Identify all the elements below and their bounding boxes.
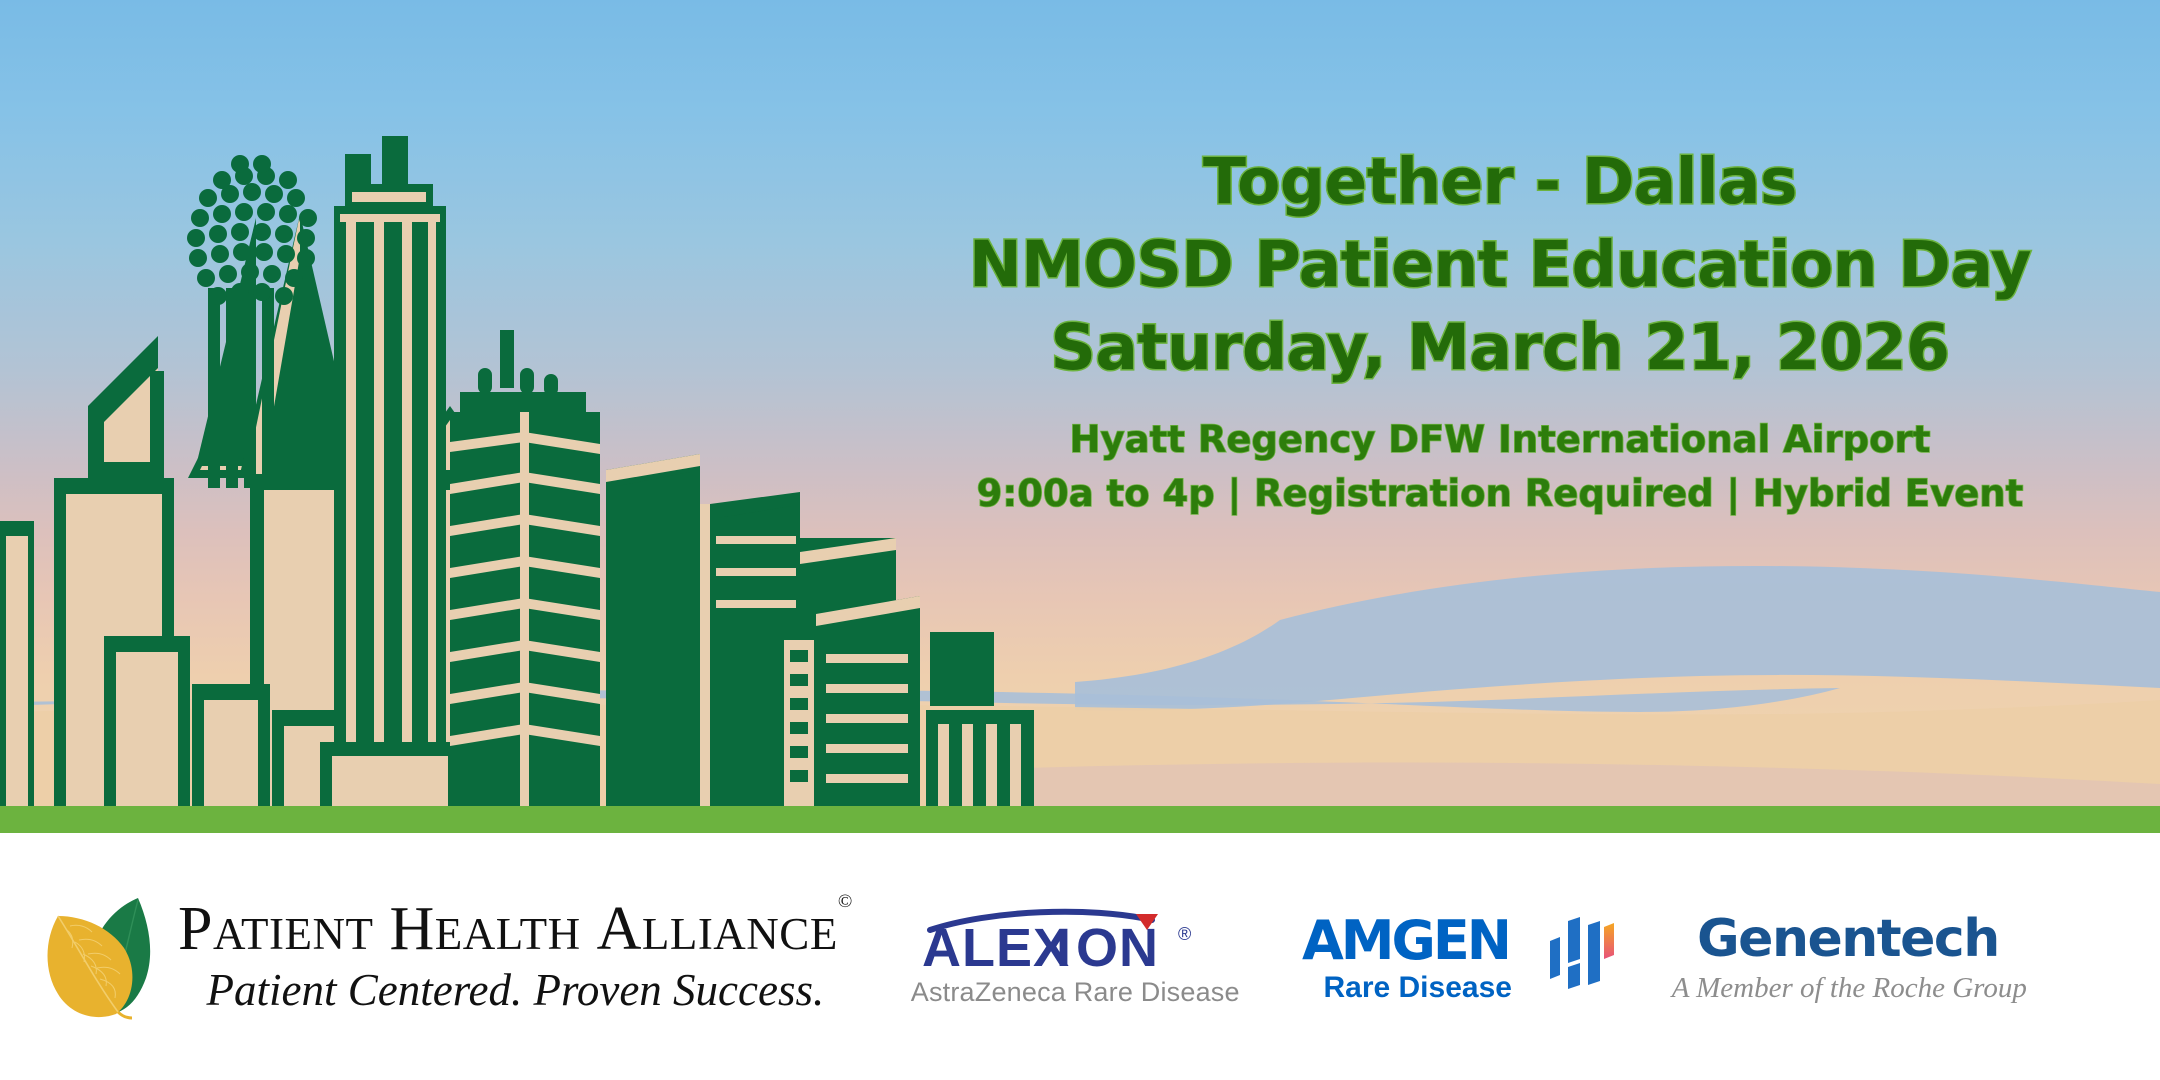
genentech-subtitle: A Member of the Roche Group — [1672, 972, 2027, 1005]
sponsor-logo-bar: PATIENT HEALTH ALLIANCE© Patient Centere… — [0, 833, 2160, 1080]
pha-p: P — [178, 895, 213, 963]
logo-amgen[interactable]: AMGEN Rare Disease — [1302, 909, 1614, 1005]
logo-alexion[interactable]: ALEX I ON ® AstraZeneca Rare Disease — [911, 906, 1240, 1008]
svg-text:ALEX: ALEX — [922, 918, 1070, 974]
two-leaves-icon — [38, 882, 166, 1032]
logo-genentech[interactable]: Genentech A Member of the Roche Group — [1672, 908, 2027, 1005]
event-banner: Together - Dallas NMOSD Patient Educatio… — [0, 0, 2160, 1080]
event-text-block: Together - Dallas NMOSD Patient Educatio… — [900, 140, 2100, 522]
headline-line-1: Together - Dallas — [900, 140, 2100, 223]
logo-patient-health-alliance[interactable]: PATIENT HEALTH ALLIANCE© Patient Centere… — [38, 882, 853, 1032]
pha-lliance: LLIANCE — [642, 909, 838, 959]
logistics-text: 9:00a to 4p | Registration Required | Hy… — [900, 467, 2100, 521]
alexion-wordmark: ALEX I ON ® — [920, 906, 1230, 974]
pha-atient: ATIENT — [213, 909, 373, 959]
pha-ealth: EALTH — [435, 909, 581, 959]
water-band-upper — [1075, 566, 2160, 711]
venue-text: Hyatt Regency DFW International Airport — [900, 413, 2100, 467]
amgen-h-mark-icon — [1548, 915, 1614, 989]
pha-a: A — [597, 895, 642, 963]
amgen-wordmark: AMGEN — [1302, 909, 1534, 969]
alexion-subtitle: AstraZeneca Rare Disease — [911, 977, 1240, 1008]
svg-text:AMGEN: AMGEN — [1302, 909, 1509, 969]
svg-text:ON: ON — [1076, 918, 1159, 974]
copyright-icon: © — [838, 891, 853, 912]
headline-line-3: Saturday, March 21, 2026 — [900, 306, 2100, 389]
amgen-subtitle: Rare Disease — [1323, 971, 1511, 1005]
registered-mark-icon: ® — [1178, 924, 1191, 944]
headline-line-2: NMOSD Patient Education Day — [900, 223, 2100, 306]
svg-text:I: I — [1056, 918, 1072, 974]
hero-illustration: Together - Dallas NMOSD Patient Educatio… — [0, 0, 2160, 806]
green-divider-bar — [0, 806, 2160, 833]
svg-text:Genentech: Genentech — [1697, 909, 1999, 969]
pha-tagline: Patient Centered. Proven Success. — [207, 966, 825, 1016]
genentech-wordmark: Genentech — [1697, 908, 2001, 970]
pha-h: H — [389, 895, 434, 963]
pha-wordmark: PATIENT HEALTH ALLIANCE© — [178, 898, 853, 960]
